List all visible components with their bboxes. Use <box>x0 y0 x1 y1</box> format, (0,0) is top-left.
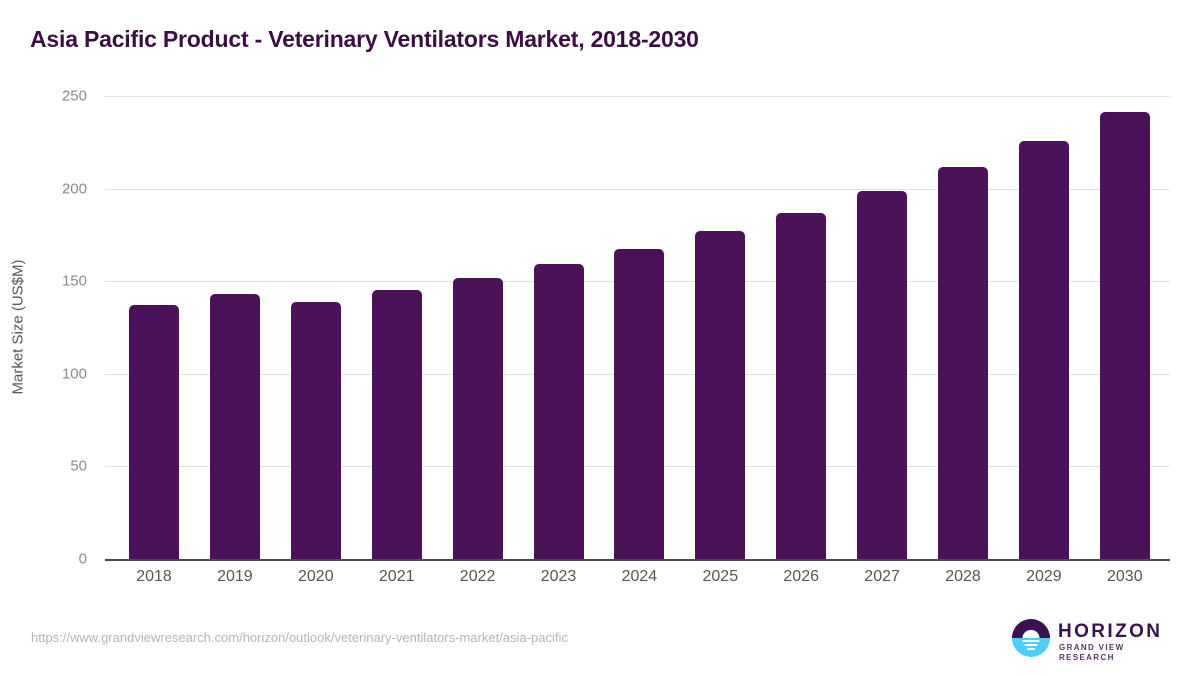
bar-2024[interactable] <box>614 249 664 559</box>
x-tick-label: 2018 <box>114 568 194 586</box>
y-tick-label: 200 <box>27 180 87 197</box>
horizon-logo[interactable]: HORIZON GRAND VIEW RESEARCH <box>1012 618 1162 660</box>
icon-wave-3 <box>1027 648 1035 650</box>
gridline <box>119 96 1170 97</box>
bar-2025[interactable] <box>695 231 745 559</box>
x-tick-label: 2020 <box>276 568 356 586</box>
y-axis-title: Market Size (US$M) <box>10 259 27 394</box>
y-tick-label: 150 <box>27 273 87 290</box>
y-tick-mark <box>105 96 119 97</box>
x-tick-label: 2030 <box>1085 568 1165 586</box>
bar-2028[interactable] <box>938 167 988 559</box>
x-tick-label: 2022 <box>438 568 518 586</box>
x-tick-label: 2024 <box>599 568 679 586</box>
x-tick-label: 2019 <box>195 568 275 586</box>
bar-2026[interactable] <box>776 213 826 559</box>
bar-2020[interactable] <box>291 302 341 559</box>
plot-area: 0501001502002502018201920202021202220232… <box>119 96 1170 559</box>
x-tick-label: 2026 <box>761 568 841 586</box>
bar-2019[interactable] <box>210 294 260 559</box>
bar-2029[interactable] <box>1019 141 1069 559</box>
source-url[interactable]: https://www.grandviewresearch.com/horizo… <box>31 630 568 645</box>
y-tick-mark <box>105 281 119 282</box>
page-title: Asia Pacific Product - Veterinary Ventil… <box>30 26 699 53</box>
x-axis-baseline <box>119 559 1170 561</box>
gridline <box>119 189 1170 190</box>
x-tick-label: 2025 <box>680 568 760 586</box>
x-tick-label: 2028 <box>923 568 1003 586</box>
y-tick-mark <box>105 374 119 375</box>
y-tick-mark <box>105 559 119 561</box>
y-tick-label: 250 <box>27 88 87 105</box>
bar-2018[interactable] <box>129 305 179 559</box>
y-tick-label: 50 <box>27 458 87 475</box>
horizon-sunset-icon <box>1012 619 1050 657</box>
logo-wordmark: HORIZON <box>1058 622 1162 642</box>
y-tick-mark <box>105 466 119 467</box>
chart-page: Asia Pacific Product - Veterinary Ventil… <box>0 0 1200 675</box>
bar-2030[interactable] <box>1100 112 1150 559</box>
bar-2027[interactable] <box>857 191 907 559</box>
icon-wave-1 <box>1023 640 1040 642</box>
x-tick-label: 2021 <box>357 568 437 586</box>
bar-2023[interactable] <box>534 264 584 559</box>
bar-2022[interactable] <box>453 278 503 560</box>
icon-wave-2 <box>1025 644 1038 646</box>
y-tick-mark <box>105 189 119 190</box>
bar-2021[interactable] <box>372 290 422 559</box>
logo-tagline: GRAND VIEW RESEARCH <box>1059 643 1162 663</box>
x-tick-label: 2027 <box>842 568 922 586</box>
x-tick-label: 2023 <box>519 568 599 586</box>
x-tick-label: 2029 <box>1004 568 1084 586</box>
y-tick-label: 100 <box>27 365 87 382</box>
y-tick-label: 0 <box>27 551 87 568</box>
